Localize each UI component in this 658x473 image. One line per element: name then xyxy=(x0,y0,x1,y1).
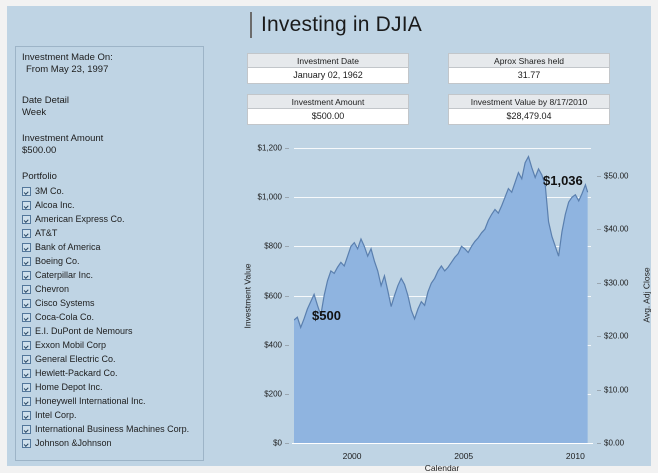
date-detail-value[interactable]: Week xyxy=(22,107,197,119)
portfolio-item[interactable]: Exxon Mobil Corp xyxy=(22,338,197,352)
y-axis-right-tickmark xyxy=(597,176,601,177)
investment-amount-label: Investment Amount xyxy=(22,133,197,145)
portfolio-item-label: Caterpillar Inc. xyxy=(35,270,93,280)
filters-panel: Investment Made On: From May 23, 1997 Da… xyxy=(15,46,204,461)
portfolio-item-label: Honeywell International Inc. xyxy=(35,396,146,406)
y-axis-left-tickmark xyxy=(285,197,289,198)
checkbox-checked-icon[interactable] xyxy=(22,215,31,224)
portfolio-item-label: Chevron xyxy=(35,284,69,294)
kpi-investment-date-value[interactable]: January 02, 1962 xyxy=(247,68,409,84)
y-axis-left-tickmark xyxy=(285,246,289,247)
title-divider xyxy=(250,12,252,38)
portfolio-item[interactable]: Honeywell International Inc. xyxy=(22,394,197,408)
page-title-text: Investing in DJIA xyxy=(261,13,422,37)
y-axis-right-tick: $20.00 xyxy=(604,332,628,341)
checkbox-checked-icon[interactable] xyxy=(22,229,31,238)
checkbox-checked-icon[interactable] xyxy=(22,285,31,294)
x-axis-title: Calendar xyxy=(425,463,460,473)
portfolio-item[interactable]: Caterpillar Inc. xyxy=(22,268,197,282)
portfolio-item[interactable]: General Electric Co. xyxy=(22,352,197,366)
investment-made-on-label: Investment Made On: xyxy=(22,52,197,64)
portfolio-item[interactable]: Home Depot Inc. xyxy=(22,380,197,394)
page-title: Investing in DJIA xyxy=(250,12,422,38)
checkbox-checked-icon[interactable] xyxy=(22,257,31,266)
y-axis-right-tick: $50.00 xyxy=(604,171,628,180)
kpi-investment-amount-value[interactable]: $500.00 xyxy=(247,109,409,125)
checkbox-checked-icon[interactable] xyxy=(22,425,31,434)
checkbox-checked-icon[interactable] xyxy=(22,201,31,210)
y-axis-left-tick: $1,000 xyxy=(258,193,282,202)
x-axis-tick: 2000 xyxy=(343,451,362,461)
checkbox-checked-icon[interactable] xyxy=(22,369,31,378)
kpi-shares-held-value[interactable]: 31.77 xyxy=(448,68,610,84)
y-axis-right-tick: $40.00 xyxy=(604,225,628,234)
checkbox-checked-icon[interactable] xyxy=(22,299,31,308)
portfolio-item-label: Coca-Cola Co. xyxy=(35,312,94,322)
y-axis-left-tick: $200 xyxy=(264,389,282,398)
date-detail-label: Date Detail xyxy=(22,95,197,107)
portfolio-item[interactable]: American Express Co. xyxy=(22,212,197,226)
kpi-investment-value-label: Investment Value by 8/17/2010 xyxy=(448,94,610,109)
portfolio-item[interactable]: Bank of America xyxy=(22,240,197,254)
checkbox-checked-icon[interactable] xyxy=(22,383,31,392)
checkbox-checked-icon[interactable] xyxy=(22,313,31,322)
y-axis-left-tickmark xyxy=(285,345,289,346)
y-axis-right-tickmark xyxy=(597,390,601,391)
portfolio-item-label: Bank of America xyxy=(35,242,101,252)
y-axis-right-title: Avg. Adj Close xyxy=(642,267,652,322)
portfolio-item-label: Johnson &Johnson xyxy=(35,438,112,448)
y-axis-right-tick: $10.00 xyxy=(604,385,628,394)
x-axis: Calendar 200020052010 xyxy=(294,443,591,473)
portfolio-item[interactable]: Chevron xyxy=(22,282,197,296)
portfolio-item-label: Cisco Systems xyxy=(35,298,95,308)
portfolio-item-label: International Business Machines Corp. xyxy=(35,424,189,434)
y-axis-right-tickmark xyxy=(597,443,601,444)
portfolio-item[interactable]: International Business Machines Corp. xyxy=(22,422,197,436)
portfolio-checkbox-list: 3M Co.Alcoa Inc.American Express Co.AT&T… xyxy=(22,184,197,450)
checkbox-checked-icon[interactable] xyxy=(22,271,31,280)
portfolio-label: Portfolio xyxy=(22,171,197,183)
portfolio-item[interactable]: 3M Co. xyxy=(22,184,197,198)
portfolio-item-label: General Electric Co. xyxy=(35,354,116,364)
annotation-start: $500 xyxy=(312,308,341,323)
portfolio-item-label: 3M Co. xyxy=(35,186,64,196)
y-axis-left-tick: $1,200 xyxy=(258,144,282,153)
checkbox-checked-icon[interactable] xyxy=(22,411,31,420)
portfolio-item-label: Exxon Mobil Corp xyxy=(35,340,106,350)
portfolio-item-label: E.I. DuPont de Nemours xyxy=(35,326,133,336)
y-axis-left-tick: $400 xyxy=(264,340,282,349)
kpi-investment-amount: Investment Amount $500.00 xyxy=(247,94,409,125)
x-axis-line xyxy=(292,443,593,444)
portfolio-item[interactable]: E.I. DuPont de Nemours xyxy=(22,324,197,338)
y-axis-left-title: Investment Value xyxy=(243,263,253,328)
checkbox-checked-icon[interactable] xyxy=(22,439,31,448)
portfolio-item-label: Hewlett-Packard Co. xyxy=(35,368,118,378)
y-axis-left-tickmark xyxy=(285,394,289,395)
checkbox-checked-icon[interactable] xyxy=(22,341,31,350)
y-axis-left-tick: $0 xyxy=(273,439,282,448)
x-axis-tick: 2010 xyxy=(566,451,585,461)
portfolio-item[interactable]: Intel Corp. xyxy=(22,408,197,422)
series-fill xyxy=(294,157,588,443)
y-axis-left-tick: $600 xyxy=(264,291,282,300)
kpi-investment-value: Investment Value by 8/17/2010 $28,479.04 xyxy=(448,94,610,125)
portfolio-item[interactable]: AT&T xyxy=(22,226,197,240)
portfolio-item[interactable]: Johnson &Johnson xyxy=(22,436,197,450)
portfolio-item[interactable]: Cisco Systems xyxy=(22,296,197,310)
y-axis-left-tick: $800 xyxy=(264,242,282,251)
annotation-end: $1,036 xyxy=(543,173,583,188)
portfolio-item[interactable]: Boeing Co. xyxy=(22,254,197,268)
portfolio-item[interactable]: Coca-Cola Co. xyxy=(22,310,197,324)
series-area-svg xyxy=(294,148,591,443)
y-axis-left-tickmark xyxy=(285,296,289,297)
kpi-shares-held: Aprox Shares held 31.77 xyxy=(448,53,610,84)
y-axis-left-tickmark xyxy=(285,443,289,444)
kpi-shares-held-label: Aprox Shares held xyxy=(448,53,610,68)
kpi-investment-value-value[interactable]: $28,479.04 xyxy=(448,109,610,125)
portfolio-item-label: Home Depot Inc. xyxy=(35,382,103,392)
kpi-investment-amount-label: Investment Amount xyxy=(247,94,409,109)
kpi-investment-date: Investment Date January 02, 1962 xyxy=(247,53,409,84)
checkbox-checked-icon[interactable] xyxy=(22,397,31,406)
x-axis-tick: 2005 xyxy=(454,451,473,461)
checkbox-checked-icon[interactable] xyxy=(22,355,31,364)
chart-plot-area: $500 $1,036 xyxy=(294,148,591,443)
screenshot-root: Investing in DJIA Investment Made On: Fr… xyxy=(0,0,658,473)
checkbox-checked-icon[interactable] xyxy=(22,243,31,252)
dashboard-panel: Investing in DJIA Investment Made On: Fr… xyxy=(7,6,651,466)
investment-made-on-value: From May 23, 1997 xyxy=(22,64,197,76)
y-axis-right-tick: $0.00 xyxy=(604,439,624,448)
investment-area-chart: Investment Value $0$200$400$600$800$1,00… xyxy=(217,138,657,473)
checkbox-checked-icon[interactable] xyxy=(22,327,31,336)
investment-amount-value[interactable]: $500.00 xyxy=(22,145,197,157)
portfolio-item-label: Boeing Co. xyxy=(35,256,80,266)
portfolio-item[interactable]: Hewlett-Packard Co. xyxy=(22,366,197,380)
y-axis-left-tickmark xyxy=(285,148,289,149)
portfolio-item-label: American Express Co. xyxy=(35,214,125,224)
y-axis-right-tickmark xyxy=(597,229,601,230)
checkbox-checked-icon[interactable] xyxy=(22,187,31,196)
y-axis-right-tick: $30.00 xyxy=(604,278,628,287)
y-axis-right-tickmark xyxy=(597,283,601,284)
kpi-investment-date-label: Investment Date xyxy=(247,53,409,68)
portfolio-item-label: Alcoa Inc. xyxy=(35,200,75,210)
y-axis-right-tickmark xyxy=(597,336,601,337)
y-axis-left: Investment Value $0$200$400$600$800$1,00… xyxy=(217,148,290,443)
portfolio-item[interactable]: Alcoa Inc. xyxy=(22,198,197,212)
portfolio-item-label: AT&T xyxy=(35,228,57,238)
portfolio-item-label: Intel Corp. xyxy=(35,410,77,420)
